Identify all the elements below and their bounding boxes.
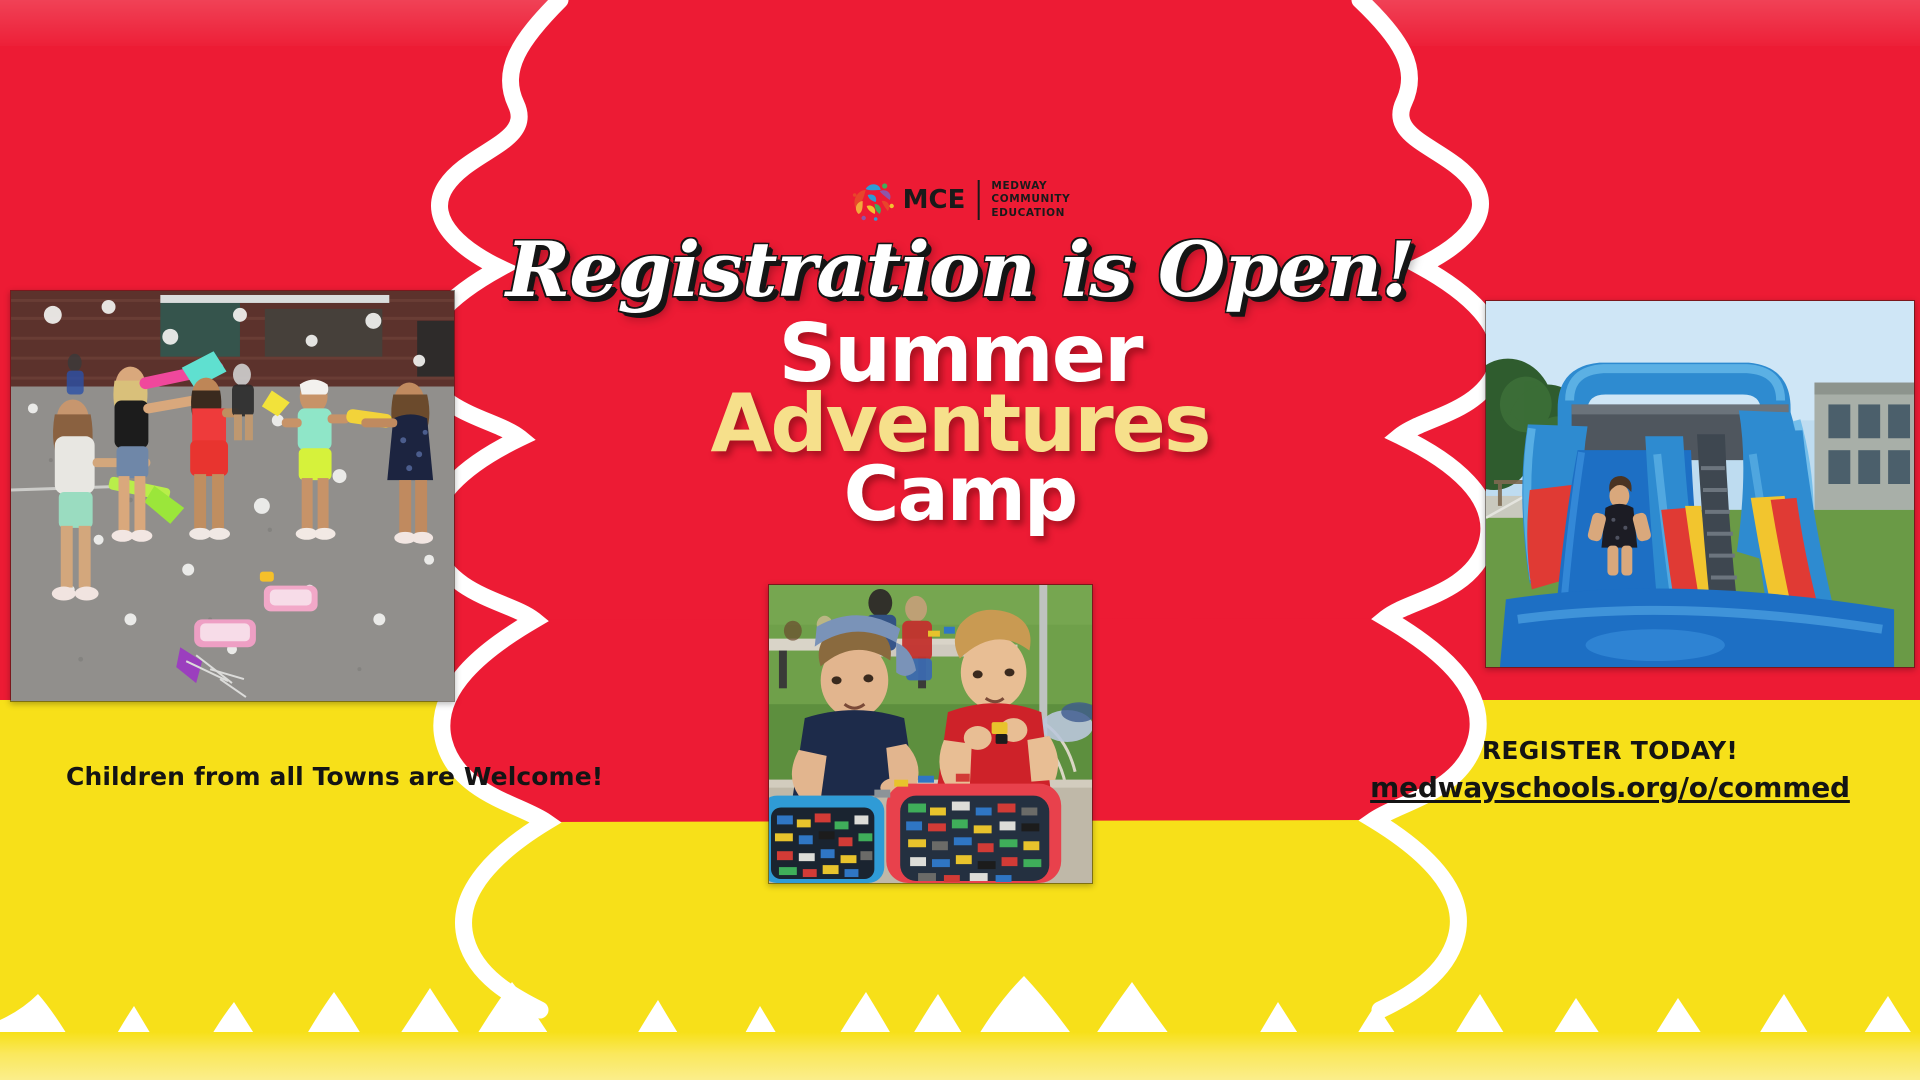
logo-line-1: MEDWAY xyxy=(991,180,1070,193)
poster-canvas: MCE MEDWAY COMMUNITY EDUCATION Registrat… xyxy=(0,0,1920,1080)
logo-abbr: MCE xyxy=(903,187,966,213)
logo-line-3: EDUCATION xyxy=(991,207,1070,220)
register-cta-block: REGISTER TODAY! medwayschools.org/o/comm… xyxy=(1300,736,1920,804)
photo-inflatable-slide xyxy=(1485,300,1915,668)
starburst-svg xyxy=(850,178,896,222)
logo-line-2: COMMUNITY xyxy=(991,193,1070,206)
photo-children-bubbles xyxy=(10,290,455,702)
registration-url-link[interactable]: medwayschools.org/o/commed xyxy=(1370,771,1850,804)
logo-divider xyxy=(977,180,979,220)
photo-inflatable-slide-art xyxy=(1486,301,1914,667)
lego-tray-blue xyxy=(769,796,884,883)
photo-boys-lego xyxy=(768,584,1093,884)
photo-children-bubbles-art xyxy=(11,291,454,701)
lego-tray-red xyxy=(886,784,1061,883)
bottom-gradient-band xyxy=(0,1032,1920,1080)
mce-logo: MCE MEDWAY COMMUNITY EDUCATION xyxy=(850,178,1071,222)
photo-boys-lego-art xyxy=(769,585,1092,883)
welcome-message: Children from all Towns are Welcome! xyxy=(66,762,603,791)
mce-starburst-icon xyxy=(850,178,896,222)
register-today-title: REGISTER TODAY! xyxy=(1300,736,1920,765)
logo-wordmark: MEDWAY COMMUNITY EDUCATION xyxy=(991,180,1070,220)
